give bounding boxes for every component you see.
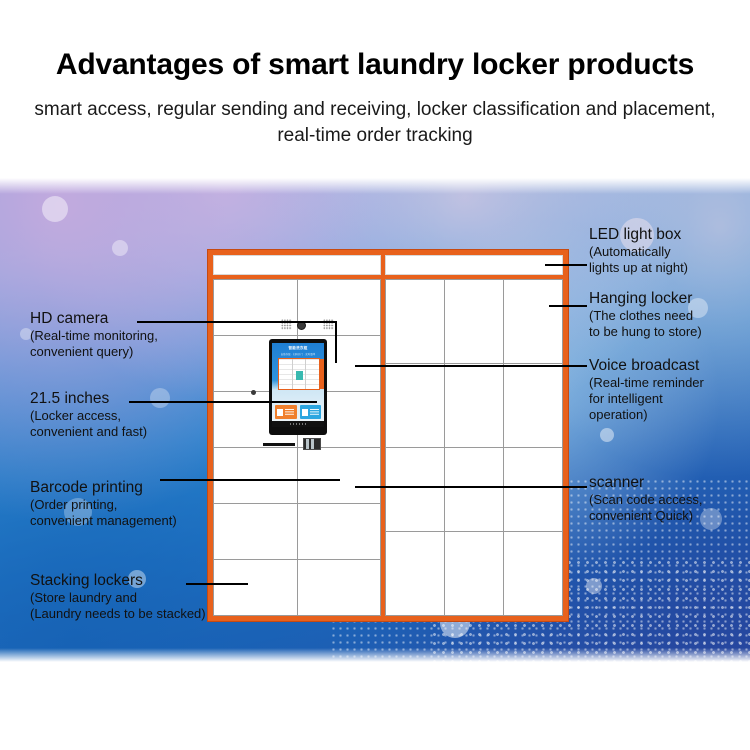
photo-top-fade: [0, 178, 750, 194]
bokeh-speck: [42, 196, 68, 222]
kiosk-display-subtitle: 自助存取 · 扫码开门 · 实时跟单: [272, 352, 324, 356]
kiosk-product-image: [278, 358, 320, 390]
indicator-dot-icon: [251, 390, 256, 395]
callout-line: (Real-time reminder: [589, 375, 704, 391]
bokeh-speck: [150, 388, 170, 408]
locker-door[interactable]: [504, 280, 562, 363]
photo-bottom-fade: [0, 648, 750, 662]
kiosk-action-buttons: [275, 405, 321, 419]
callout-line: (Order printing,: [30, 497, 177, 513]
callout-barcode-printing: Barcode printing (Order printing, conven…: [30, 479, 177, 529]
callout-line: for intelligent: [589, 391, 704, 407]
callout-screen-size: 21.5 inches (Locker access, convenient a…: [30, 390, 147, 440]
leader-line-hanging-locker: [549, 305, 587, 307]
leader-line-hd-camera: [335, 321, 337, 363]
callout-line: convenient management): [30, 513, 177, 529]
locker-door[interactable]: [214, 448, 297, 503]
locker-door[interactable]: [504, 364, 562, 447]
callout-scanner: scanner (Scan code access, convenient Qu…: [589, 474, 702, 524]
bokeh-speck: [700, 508, 722, 530]
page-title: Advantages of smart laundry locker produ…: [0, 48, 750, 82]
leader-line-screen-size: [129, 401, 317, 403]
callout-hd-camera: HD camera (Real-time monitoring, conveni…: [30, 310, 158, 360]
qr-scanner-icon[interactable]: [303, 438, 321, 450]
locker-door[interactable]: [445, 280, 503, 363]
callout-led-light-box: LED light box (Automatically lights up a…: [589, 226, 688, 276]
callout-title: Hanging locker: [589, 290, 702, 308]
callout-line: (The clothes need: [589, 308, 702, 324]
locker-door[interactable]: [386, 280, 444, 363]
callout-title: scanner: [589, 474, 702, 492]
locker-door[interactable]: [445, 364, 503, 447]
callout-stacking-lockers: Stacking lockers (Store laundry and (Lau…: [30, 572, 206, 622]
barcode-printer-slot: [263, 443, 295, 446]
callout-line: convenient query): [30, 344, 158, 360]
page-subtitle: smart access, regular sending and receiv…: [30, 97, 720, 149]
callout-line: (Real-time monitoring,: [30, 328, 158, 344]
locker-door[interactable]: [445, 532, 503, 615]
smart-laundry-locker-cabinet: 智能洗衣柜 自助存取 · 扫码开门 · 实时跟单: [207, 249, 569, 622]
locker-door[interactable]: [214, 560, 297, 615]
callout-line: (Scan code access,: [589, 492, 702, 508]
leader-line-led-light-box: [545, 264, 587, 266]
led-light-box-left: [213, 255, 381, 275]
pickup-button[interactable]: [300, 405, 322, 419]
callout-line: (Store laundry and: [30, 590, 206, 606]
callout-title: LED light box: [589, 226, 688, 244]
callout-title: Barcode printing: [30, 479, 177, 497]
bokeh-speck: [586, 578, 602, 594]
bokeh-speck: [112, 240, 128, 256]
kiosk-display[interactable]: 智能洗衣柜 自助存取 · 扫码开门 · 实时跟单: [272, 343, 324, 427]
callout-line: (Laundry needs to be stacked): [30, 606, 206, 622]
deposit-button[interactable]: [275, 405, 297, 419]
locker-door[interactable]: [214, 504, 297, 559]
callout-hanging-locker: Hanging locker (The clothes need to be h…: [589, 290, 702, 340]
deposit-icon: [277, 409, 283, 416]
locker-door[interactable]: [298, 280, 381, 335]
callout-title: Stacking lockers: [30, 572, 206, 590]
locker-door[interactable]: [386, 532, 444, 615]
led-light-box-right: [385, 255, 563, 275]
locker-door[interactable]: [298, 448, 381, 503]
bokeh-speck: [600, 428, 614, 442]
locker-door[interactable]: [298, 560, 381, 615]
callout-title: HD camera: [30, 310, 158, 328]
kiosk-bezel-bottom: [272, 421, 324, 427]
callout-title: Voice broadcast: [589, 357, 704, 375]
leader-line-scanner: [355, 486, 587, 488]
hanging-locker-bay: [385, 255, 563, 616]
kiosk-touchscreen[interactable]: 智能洗衣柜 自助存取 · 扫码开门 · 实时跟单: [269, 339, 327, 435]
locker-door[interactable]: [445, 448, 503, 531]
callout-voice-broadcast: Voice broadcast (Real-time reminder for …: [589, 357, 704, 423]
kiosk-display-title: 智能洗衣柜: [272, 346, 324, 351]
callout-line: operation): [589, 407, 704, 423]
locker-door[interactable]: [504, 532, 562, 615]
callout-line: lights up at night): [589, 260, 688, 276]
callout-line: convenient Quick): [589, 508, 702, 524]
locker-door[interactable]: [298, 504, 381, 559]
pickup-icon: [302, 409, 308, 416]
leader-line-hd-camera: [137, 321, 337, 323]
locker-door[interactable]: [386, 448, 444, 531]
hanging-door-grid: [385, 279, 563, 616]
callout-line: to be hung to store): [589, 324, 702, 340]
callout-line: (Locker access,: [30, 408, 147, 424]
callout-line: (Automatically: [589, 244, 688, 260]
stacking-door-grid: [213, 279, 381, 616]
stacking-locker-bay: 智能洗衣柜 自助存取 · 扫码开门 · 实时跟单: [213, 255, 381, 616]
locker-door[interactable]: [504, 448, 562, 531]
callout-line: convenient and fast): [30, 424, 147, 440]
callout-title: 21.5 inches: [30, 390, 147, 408]
leader-line-barcode-printing: [160, 479, 340, 481]
locker-door[interactable]: [386, 364, 444, 447]
leader-line-voice-broadcast: [355, 365, 587, 367]
page-header: Advantages of smart laundry locker produ…: [0, 0, 750, 178]
